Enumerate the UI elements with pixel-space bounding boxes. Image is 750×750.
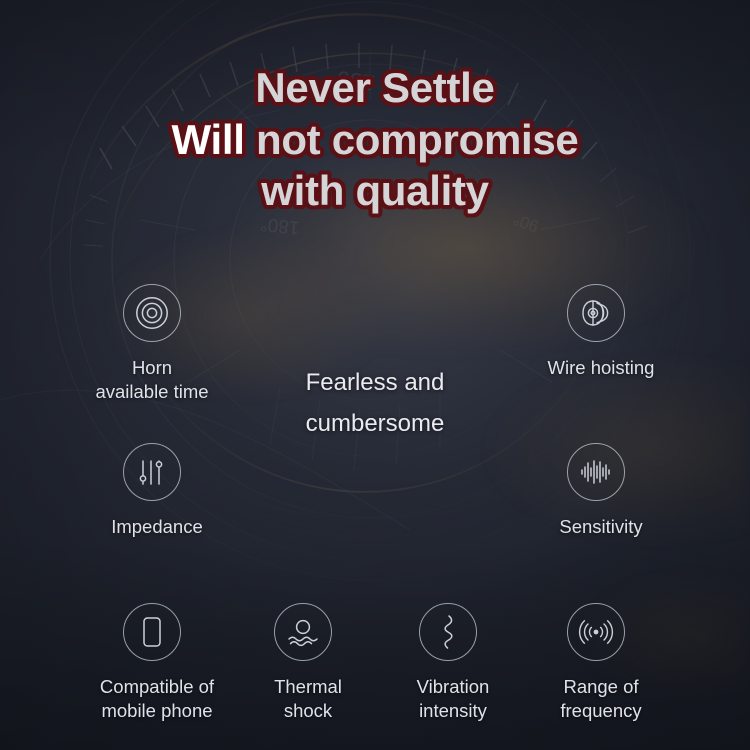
audio-waveform-icon (567, 443, 625, 501)
feature-label: Impedance (57, 515, 257, 539)
feature-range-of-frequency: Range of frequency (501, 603, 691, 723)
equalizer-sliders-icon (123, 443, 181, 501)
feature-label: Sensitivity (501, 515, 701, 539)
feature-label: Range of frequency (516, 675, 686, 723)
feature-label: Wire hoisting (501, 356, 701, 380)
feature-horn-available-time: Horn available time (57, 284, 247, 404)
concentric-circles-icon (123, 284, 181, 342)
feature-label: Horn available time (52, 356, 252, 404)
headline-block: Never Settle Will not compromise with qu… (0, 62, 750, 217)
feature-sensitivity: Sensitivity (501, 443, 691, 539)
headline-line-2-rest: not compromise (245, 116, 579, 163)
thermal-sun-waves-icon (274, 603, 332, 661)
headline-line-2: Will not compromise (0, 114, 750, 166)
vibration-zigzag-icon (419, 603, 477, 661)
radio-waves-icon (567, 603, 625, 661)
headline-line-3: with quality (0, 165, 750, 217)
feature-wire-hoisting: Wire hoisting (501, 284, 691, 380)
headline-line-1: Never Settle (0, 62, 750, 114)
wire-coil-icon (567, 284, 625, 342)
product-feature-banner: 180° 180° 90° Never Settle Will not comp… (0, 0, 750, 750)
headline-emphasis: Will (172, 116, 245, 163)
feature-impedance: Impedance (57, 443, 247, 539)
mobile-phone-icon (123, 603, 181, 661)
